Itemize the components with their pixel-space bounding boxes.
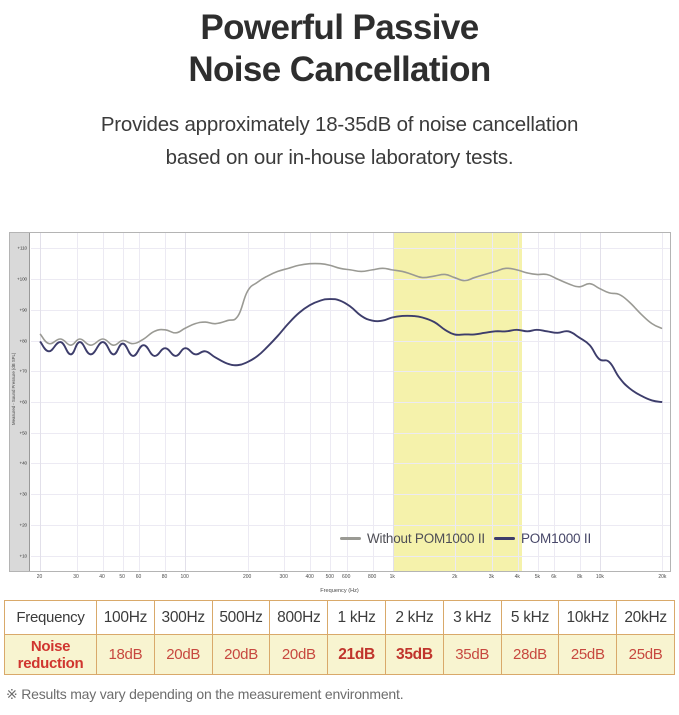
y-tick-label: +60 xyxy=(20,400,28,405)
table-cell-noise-reduction: 35dB xyxy=(443,635,501,675)
legend-label-with: POM1000 II xyxy=(521,531,591,546)
x-tick-label: 60 xyxy=(136,574,142,580)
y-tick-label: +110 xyxy=(17,246,27,251)
page-subtitle: Provides approximately 18-35dB of noise … xyxy=(0,91,679,174)
y-tick-label: +80 xyxy=(20,338,28,343)
table-header-cell: 300Hz xyxy=(154,601,212,635)
table-cell-noise-reduction: 18dB xyxy=(97,635,155,675)
series-line-without xyxy=(40,263,661,345)
table-header-cell: 20kHz xyxy=(617,601,675,635)
table-cell-noise-reduction: 25dB xyxy=(559,635,617,675)
x-tick-label: 8k xyxy=(577,574,582,580)
page-title: Powerful Passive Noise Cancellation xyxy=(0,0,679,91)
y-axis-gutter: Measured - Sound Pressure (dB SPL) +110+… xyxy=(10,233,30,571)
legend-label-without: Without POM1000 II xyxy=(367,531,485,546)
y-tick-label: +70 xyxy=(20,369,28,374)
footnote: ※ Results may vary depending on the meas… xyxy=(6,686,403,703)
x-tick-label: 1k xyxy=(390,574,395,580)
x-tick-label: 30 xyxy=(73,574,79,580)
table-header-cell: 5 kHz xyxy=(501,601,559,635)
headline-line-1: Powerful Passive xyxy=(0,7,679,49)
table-header-cell: 500Hz xyxy=(212,601,270,635)
table-cell-noise-reduction: 28dB xyxy=(501,635,559,675)
table-cell-noise-reduction: 35dB xyxy=(385,635,443,675)
x-tick-label: 500 xyxy=(326,574,334,580)
x-tick-label: 50 xyxy=(119,574,125,580)
x-tick-label: 800 xyxy=(368,574,376,580)
x-tick-label: 200 xyxy=(243,574,251,580)
x-tick-label: 10k xyxy=(596,574,604,580)
headline-line-2: Noise Cancellation xyxy=(0,49,679,91)
legend-item-with: POM1000 II xyxy=(494,531,591,546)
table-header-row: Frequency100Hz300Hz500Hz800Hz1 kHz2 kHz3… xyxy=(5,601,675,635)
table-cell-noise-reduction: 20dB xyxy=(270,635,328,675)
legend-swatch-with xyxy=(494,537,515,540)
table-header-cell: 800Hz xyxy=(270,601,328,635)
y-tick-label: +40 xyxy=(20,461,28,466)
x-tick-label: 4k xyxy=(515,574,520,580)
legend-item-without: Without POM1000 II xyxy=(340,531,485,546)
noise-reduction-table-wrap: Frequency100Hz300Hz500Hz800Hz1 kHz2 kHz3… xyxy=(4,600,675,675)
subtitle-line-1: Provides approximately 18-35dB of noise … xyxy=(0,108,679,141)
x-axis-ticks: 2030405060801002003004005006008001k2k3k4… xyxy=(30,573,671,587)
x-tick-label: 40 xyxy=(99,574,105,580)
frequency-response-chart: Measured - Sound Pressure (dB SPL) +110+… xyxy=(0,222,679,592)
x-tick-label: 600 xyxy=(342,574,350,580)
series-line-with xyxy=(40,299,661,402)
table-cell-noise-reduction: 20dB xyxy=(154,635,212,675)
table-header-cell: 10kHz xyxy=(559,601,617,635)
table-cell-noise-reduction: 20dB xyxy=(212,635,270,675)
y-tick-label: +50 xyxy=(20,430,28,435)
table-header-cell: 100Hz xyxy=(97,601,155,635)
subtitle-line-2: based on our in-house laboratory tests. xyxy=(0,141,679,174)
noise-cancellation-infographic: Powerful Passive Noise Cancellation Prov… xyxy=(0,0,679,715)
x-tick-label: 3k xyxy=(489,574,494,580)
x-tick-label: 5k xyxy=(535,574,540,580)
y-axis-title: Measured - Sound Pressure (dB SPL) xyxy=(11,353,16,425)
y-tick-label: +30 xyxy=(20,492,28,497)
y-tick-label: +10 xyxy=(20,553,28,558)
table-header-cell: 1 kHz xyxy=(328,601,386,635)
x-tick-label: 100 xyxy=(180,574,188,580)
curve-layer xyxy=(31,233,670,571)
y-tick-label: +90 xyxy=(20,307,28,312)
x-tick-label: 20 xyxy=(37,574,43,580)
x-axis-title: Frequency (Hz) xyxy=(0,588,679,594)
y-tick-label: +100 xyxy=(17,277,27,282)
table-header-cell: 3 kHz xyxy=(443,601,501,635)
x-tick-label: 300 xyxy=(280,574,288,580)
legend-swatch-without xyxy=(340,537,361,540)
table-header-label: Frequency xyxy=(5,601,97,635)
x-tick-label: 2k xyxy=(452,574,457,580)
table-header-cell: 2 kHz xyxy=(385,601,443,635)
chart-plot-frame: Measured - Sound Pressure (dB SPL) +110+… xyxy=(9,232,671,572)
table-row-label: Noisereduction xyxy=(5,635,97,675)
table-cell-noise-reduction: 21dB xyxy=(328,635,386,675)
table-cell-noise-reduction: 25dB xyxy=(617,635,675,675)
x-tick-label: 20k xyxy=(658,574,666,580)
table-row: Noisereduction18dB20dB20dB20dB21dB35dB35… xyxy=(5,635,675,675)
x-tick-label: 6k xyxy=(551,574,556,580)
x-tick-label: 80 xyxy=(162,574,168,580)
noise-reduction-table: Frequency100Hz300Hz500Hz800Hz1 kHz2 kHz3… xyxy=(4,600,675,675)
x-tick-label: 400 xyxy=(305,574,313,580)
chart-legend: Without POM1000 II POM1000 II xyxy=(340,531,591,546)
y-tick-label: +20 xyxy=(20,522,28,527)
plot-area xyxy=(31,233,670,571)
